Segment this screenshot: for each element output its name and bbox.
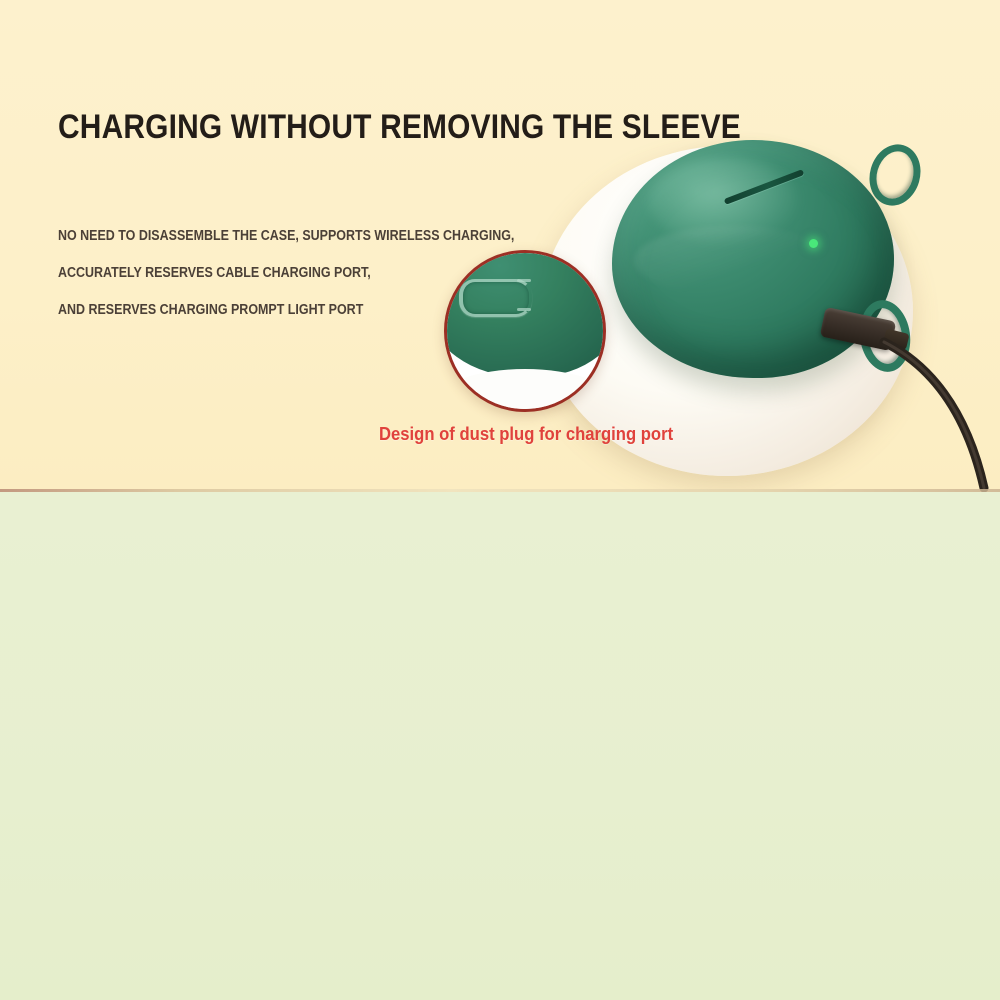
top-panel-body-line-1: NO NEED TO DISASSEMBLE THE CASE, SUPPORT… <box>58 228 514 244</box>
top-panel-body-line-3: AND RESERVES CHARGING PROMPT LIGHT PORT <box>58 302 363 318</box>
inset-case-surface <box>444 250 606 377</box>
case-crease <box>634 226 834 296</box>
bottom-panel: SUPPORT WIRELESS CHARGING PUT IT DOWN AN… <box>0 492 1000 1000</box>
dust-plug-tab-top <box>517 279 531 282</box>
top-panel: CHARGING WITHOUT REMOVING THE SLEEVE NO … <box>0 0 1000 492</box>
product-infographic: CHARGING WITHOUT REMOVING THE SLEEVE NO … <box>0 0 1000 1000</box>
dust-plug-tab-bottom <box>517 308 531 311</box>
dust-plug-caption: Design of dust plug for charging port <box>379 423 673 445</box>
dust-plug-detail-inset <box>444 250 606 412</box>
top-panel-headline: CHARGING WITHOUT REMOVING THE SLEEVE <box>58 108 741 147</box>
usb-charging-cable <box>880 330 1000 490</box>
dust-plug-icon <box>459 279 532 317</box>
charging-led-indicator <box>809 239 818 248</box>
top-panel-body-line-2: ACCURATELY RESERVES CABLE CHARGING PORT, <box>58 265 371 281</box>
inset-lower-white-area <box>444 369 606 412</box>
